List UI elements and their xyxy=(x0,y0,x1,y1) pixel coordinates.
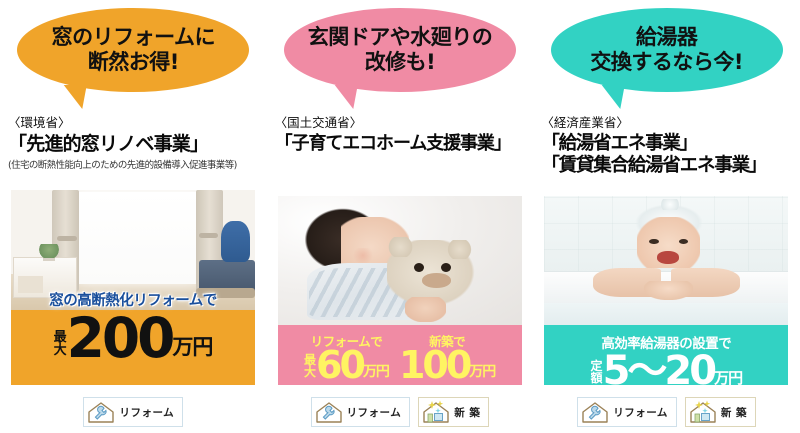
house-wrench-icon xyxy=(580,400,610,424)
house-wrench-icon xyxy=(86,400,116,424)
badge-row: リフォーム 新 築 xyxy=(267,397,534,427)
teddy-ear-right xyxy=(446,240,473,259)
program-column-kyuto-shoene: 給湯器 交換するなら今! 〈経済産業省〉 「給湯省エネ事業」 「賃貸集合給湯省エ… xyxy=(533,0,800,433)
curtain-tie-right xyxy=(199,233,219,238)
program-title: 「先進的窓リノベ事業」 xyxy=(8,133,261,156)
teddy-eye-right xyxy=(441,263,451,272)
amount-prefix-bottom: 大 xyxy=(54,344,67,357)
amount-row: 定 額 5〜20 万円 xyxy=(544,352,788,385)
house-sparkle-icon xyxy=(421,400,451,424)
badge-label: リフォーム xyxy=(613,405,668,420)
ministry-label: 〈経済産業省〉 xyxy=(541,112,794,131)
ministry-label: 〈環境省〉 xyxy=(8,112,261,131)
title-block: 〈環境省〉 「先進的窓リノベ事業」 (住宅の断熱性能向上のための先進的設備導入促… xyxy=(0,112,267,171)
child-eye-left xyxy=(649,239,659,244)
amount-prefix: 最 大 xyxy=(54,331,67,364)
person-silhouette xyxy=(221,221,250,262)
program-card: リフォームで 最 大 60 万円 新築で 10 xyxy=(278,196,522,385)
badge-reform[interactable]: リフォーム xyxy=(311,397,411,427)
speech-bubble-tail xyxy=(335,85,361,109)
bubble-line-2: 断然お得! xyxy=(88,50,179,75)
child-mouth xyxy=(657,251,679,264)
program-title-secondary: 「賃貸集合給湯省エネ事業」 xyxy=(541,155,794,177)
program-column-window-renovation: 窓のリフォームに 断然お得! 〈環境省〉 「先進的窓リノベ事業」 (住宅の断熱性… xyxy=(0,0,267,433)
amount-prefix: 最 大 xyxy=(304,354,316,383)
teddy-snout xyxy=(422,273,451,287)
amount-unit: 万円 xyxy=(172,338,212,364)
amount-banner: リフォームで 最 大 60 万円 新築で 10 xyxy=(278,325,522,385)
speech-bubble-tail xyxy=(601,85,627,109)
badge-new-build[interactable]: 新 築 xyxy=(685,397,756,427)
badge-label: 新 築 xyxy=(454,405,480,420)
program-card: 高効率給湯器の設置で 定 額 5〜20 万円 xyxy=(544,196,788,385)
house-sparkle-icon xyxy=(688,400,718,424)
sheer-curtain xyxy=(74,192,201,283)
badge-new-build[interactable]: 新 築 xyxy=(418,397,489,427)
child-hands xyxy=(644,281,693,300)
amount-banner: 高効率給湯器の設置で 定 額 5〜20 万円 xyxy=(544,325,788,385)
amount-unit: 万円 xyxy=(714,371,742,385)
shampoo-foam-top xyxy=(659,199,681,211)
amount-value: 60 xyxy=(316,347,363,383)
bubble-line-1: 窓のリフォームに xyxy=(52,25,215,50)
badge-label: 新 築 xyxy=(721,405,747,420)
amount-row: 最 大 200 万円 xyxy=(11,312,255,364)
program-title: 「子育てエコホーム支援事業」 xyxy=(275,133,528,155)
amount-row: 100 万円 xyxy=(399,347,495,383)
amount-prefix: 定 額 xyxy=(591,360,603,385)
amount-prefix-bottom: 大 xyxy=(304,366,316,378)
amount-prefix-bottom: 額 xyxy=(591,372,603,384)
curtain-tie-left xyxy=(57,236,77,241)
bath-illustration xyxy=(544,196,788,325)
sleeping-child-illustration xyxy=(278,196,522,325)
badge-row: リフォーム xyxy=(0,397,267,427)
badge-label: リフォーム xyxy=(347,405,402,420)
child-eye-right xyxy=(679,239,689,244)
bubble-line-1: 給湯器 xyxy=(636,25,698,50)
bubble-line-2: 交換するなら今! xyxy=(590,50,743,75)
badge-row: リフォーム 新 築 xyxy=(533,397,800,427)
badge-label: リフォーム xyxy=(119,405,174,420)
speech-bubble-tail xyxy=(64,85,90,109)
amount-group-reform: リフォームで 最 大 60 万円 xyxy=(304,331,389,383)
speech-bubble: 給湯器 交換するなら今! xyxy=(551,8,783,92)
photo-sleeping-child xyxy=(278,196,522,325)
amount-value: 5〜20 xyxy=(603,352,715,385)
ministry-label: 〈国土交通省〉 xyxy=(275,112,528,131)
speech-bubble: 窓のリフォームに 断然お得! xyxy=(17,8,249,92)
amount-value: 100 xyxy=(399,347,469,383)
house-wrench-icon xyxy=(314,400,344,424)
amount-row: 最 大 60 万円 xyxy=(304,347,389,383)
plant-icon xyxy=(38,244,60,258)
subsidy-board: 窓のリフォームに 断然お得! 〈環境省〉 「先進的窓リノベ事業」 (住宅の断熱性… xyxy=(0,0,800,433)
amount-unit: 万円 xyxy=(363,366,389,383)
bubble-line-2: 改修も! xyxy=(365,50,436,75)
bubble-line-1: 玄関ドアや水廻りの xyxy=(308,25,493,50)
speech-bubble-container: 窓のリフォームに 断然お得! xyxy=(0,0,267,112)
amount-group-row: リフォームで 最 大 60 万円 新築で 10 xyxy=(278,331,522,383)
title-block: 〈国土交通省〉 「子育てエコホーム支援事業」 xyxy=(267,112,534,155)
title-block: 〈経済産業省〉 「給湯省エネ事業」 「賃貸集合給湯省エネ事業」 xyxy=(533,112,800,177)
bath-water xyxy=(544,303,788,325)
speech-bubble-container: 給湯器 交換するなら今! xyxy=(533,0,800,112)
program-title: 「給湯省エネ事業」 xyxy=(541,133,794,155)
program-card: 窓の高断熱化リフォームで 最 大 200 万円 xyxy=(11,190,255,385)
program-note: (住宅の断熱性能向上のための先進的設備導入促進事業等) xyxy=(8,157,261,171)
amount-value: 200 xyxy=(67,312,173,364)
speech-bubble: 玄関ドアや水廻りの 改修も! xyxy=(284,8,516,92)
child-cheek xyxy=(351,248,375,263)
badge-reform[interactable]: リフォーム xyxy=(83,397,183,427)
program-column-kosodate-eco-home: 玄関ドアや水廻りの 改修も! 〈国土交通省〉 「子育てエコホーム支援事業」 xyxy=(267,0,534,433)
speech-bubble-container: 玄関ドアや水廻りの 改修も! xyxy=(267,0,534,112)
photo-child-bath xyxy=(544,196,788,325)
badge-reform[interactable]: リフォーム xyxy=(577,397,677,427)
amount-unit: 万円 xyxy=(469,366,495,383)
amount-banner: 窓の高断熱化リフォームで 最 大 200 万円 xyxy=(11,310,255,385)
amount-group-new-build: 新築で 100 万円 xyxy=(399,331,495,383)
child-hand xyxy=(405,297,446,323)
teddy-ear-left xyxy=(387,237,414,256)
